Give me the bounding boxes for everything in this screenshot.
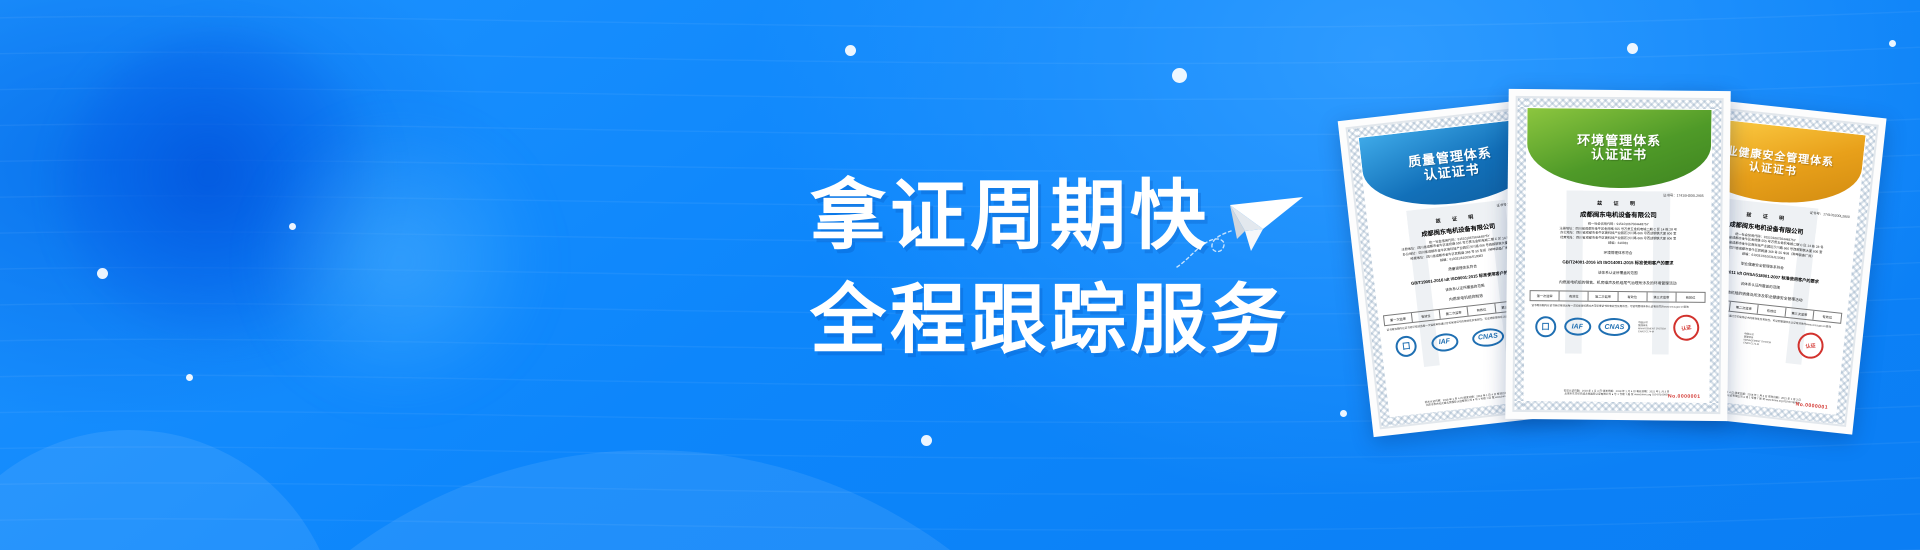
table-cell: 第二次监审: [1589, 292, 1618, 301]
certificate-system-label: 环境管理体系符合: [1533, 250, 1703, 257]
table-cell: 第二次监审: [1440, 306, 1469, 318]
certificate-attest-label: 兹 证 明: [1534, 199, 1704, 208]
table-cell: 第一次监审: [1384, 313, 1413, 325]
certificate-group: 质量管理体系 认证证书 证书号：CT019820012906 兹 证 明 成都闽…: [1355, 70, 1915, 470]
table-cell: 有效位: [1758, 304, 1787, 316]
iaf-logo: IAF: [1430, 332, 1459, 353]
cnas-logo-caption: 中国认可 管理体系 MANAGEMENT SYSTEM CNAS C174-M: [1743, 333, 1772, 348]
certificate-title-line2: 认证证书: [1591, 148, 1647, 163]
paper-plane-icon: [1175, 175, 1305, 270]
dot-6-icon: [97, 268, 108, 279]
dot-3-icon: [1627, 43, 1638, 54]
certificate-header-environment: 环境管理体系 认证证书: [1527, 108, 1712, 189]
certificate-scope-label: 该体系认证所覆盖的范围: [1533, 270, 1703, 277]
official-seal-stamp: 认证: [1671, 313, 1702, 344]
table-cell: 有效位: [1618, 292, 1647, 301]
decor-circle-a: [0, 430, 340, 550]
table-cell: 有效位: [1813, 310, 1841, 322]
cnas-logo-caption: 中国认可 管理体系 MANAGEMENT SYSTEM CNAS C174-M: [1638, 322, 1666, 334]
official-seal-stamp: 认证: [1796, 332, 1824, 360]
promo-banner: 拿证周期快 全程跟踪服务 质量管理体系 认证证书 证书号：CT0198: [0, 0, 1920, 550]
table-cell: 第三次监审: [1647, 292, 1676, 301]
certificate-number: 证书号：17410H200L2905: [1534, 191, 1704, 198]
certificate-fine-print: 证书有效期内在证书标识有效且每一次监督审核通过方可保持证书的有效性及有效性。可证…: [1531, 304, 1703, 309]
background-glow-blob: [60, 30, 390, 350]
cnas-logo: CNAS: [1598, 318, 1630, 336]
certificate-audit-table: 第一次监审 有效位 第二次监审 有效位 第三次监审 有效位: [1530, 290, 1706, 303]
table-cell: 有效位: [1467, 303, 1496, 315]
table-cell: 第一次监审: [1531, 291, 1560, 300]
table-cell: 有效位: [1412, 309, 1441, 321]
iaf-logo: IAF: [1564, 318, 1591, 336]
table-cell: 第三次监审: [1786, 307, 1815, 319]
dot-2-icon: [1172, 68, 1187, 83]
cnas-logo: CNAS: [1471, 327, 1505, 349]
certificate-environmental-management[interactable]: 环境管理体系 认证证书 证书号：17410H200L2905 兹 证 明 成都闽…: [1505, 89, 1730, 421]
certificate-serial: No.0000001: [1668, 394, 1701, 400]
background-glow-blob-secondary: [250, 120, 550, 400]
dot-4-icon: [1889, 40, 1896, 47]
dot-8-icon: [921, 435, 932, 446]
dot-7-icon: [186, 374, 193, 381]
table-cell: 有效位: [1676, 292, 1704, 301]
dot-9-icon: [1340, 410, 1347, 417]
dot-5-icon: [289, 223, 296, 230]
decor-circle-b: [150, 450, 1150, 550]
certificate-standard: GB/T24001-2016 idt ISO14001:2015 标准使用客户的…: [1533, 259, 1703, 267]
table-cell: 有效位: [1560, 291, 1589, 300]
cnca-logo: 囗: [1535, 316, 1556, 337]
certificate-organization: 成都闽东电机设备有限公司: [1533, 209, 1703, 220]
dot-1-icon: [845, 45, 856, 56]
certificate-scope: 内燃发电机组的销售、机房噪声及机组尾气治理所涉及的环境管理活动: [1533, 280, 1703, 287]
table-cell: 第二次监审: [1730, 301, 1759, 313]
cnca-logo: 囗: [1395, 335, 1418, 358]
headline-line-2: 全程跟踪服务: [810, 269, 1290, 373]
certificate-postcode: 邮编：610031: [1533, 240, 1703, 247]
certificate-accreditation-logos: 囗 IAF CNAS 中国认可 管理体系 MANAGEMENT SYSTEM C…: [1525, 313, 1709, 341]
